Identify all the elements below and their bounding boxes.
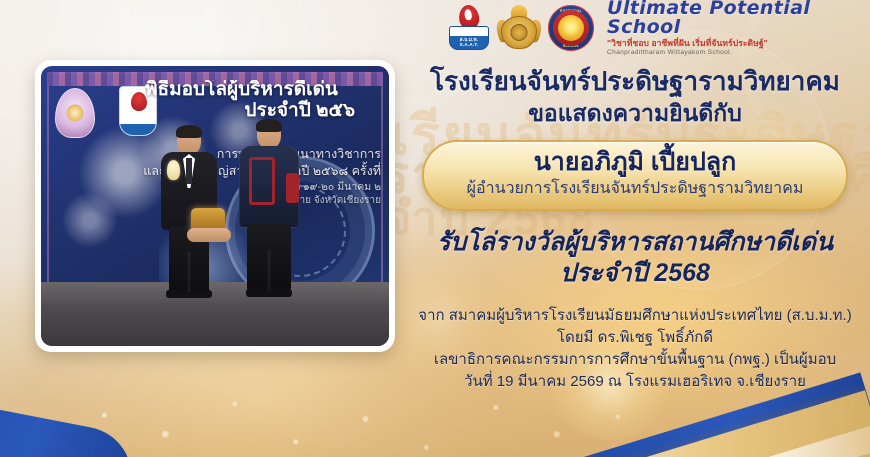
honoree-name-banner: นายอภิภูมิ เปี้ยปลูก ผู้อำนวยการโรงเรียน… <box>422 140 848 210</box>
congratulation-text: ขอแสดงความยินดีกับ <box>400 99 870 128</box>
school-name: โรงเรียนจันทร์ประดิษฐารามวิทยาคม <box>400 66 870 98</box>
saat-logo: ส.บ.ม.ท. S.A.A.T. <box>448 5 490 51</box>
person-shoes <box>246 289 292 297</box>
blue-ribbon-shape <box>0 389 140 457</box>
award-title: รับโล่รางวัลผู้บริหารสถานศึกษาดีเด่น <box>400 227 870 258</box>
honoree-role: ผู้อำนวยการโรงเรียนจันทร์ประดิษฐารามวิทย… <box>440 179 830 200</box>
ceremony-photo: พิธีมอบโล่ผู้บริหารดีเด่น ประจำปี ๒๕๖ กา… <box>41 66 389 346</box>
person-hair <box>256 119 282 132</box>
award-year: ประจำปี 2568 <box>400 258 870 289</box>
person-head <box>177 126 201 155</box>
backdrop-title-line1: พิธีมอบโล่ผู้บริหารดีเด่น <box>145 80 381 101</box>
announcement-text-column: โรงเรียนจันทร์ประดิษฐารามวิทยาคม ขอแสดงค… <box>400 66 870 394</box>
detail-line: เลขาธิการคณะกรรมการการศึกษาขั้นพื้นฐาน (… <box>400 349 870 371</box>
person-head <box>257 120 281 149</box>
ultimate-potential-school-seal: POTENTIAL SCHOOL <box>548 5 594 51</box>
detail-line: จาก สมาคมผู้บริหารโรงเรียนมัธยมศึกษาแห่ง… <box>400 305 870 327</box>
person-traditional-jacket <box>239 146 299 228</box>
brand-slogan: "วิชาที่ชอบ อาชีพที่ฝัน เริ่มที่จันทร์ปร… <box>607 39 864 48</box>
honoree-name: นายอภิภูมิ เปี้ยปลูก <box>440 148 830 178</box>
garuda-emblem <box>499 5 539 51</box>
garuda-center <box>511 24 528 41</box>
congratulation-poster: โรงเรียนจันทร์ประดิษฐารามวิทยาคม รับโล่ร… <box>0 0 870 457</box>
white-streak-shape <box>596 422 870 457</box>
lapel-ribbon-icon <box>167 160 180 180</box>
shield-icon: ส.บ.ม.ท. S.A.A.T. <box>449 26 489 50</box>
award-details: จาก สมาคมผู้บริหารโรงเรียนมัธยมศึกษาแห่ง… <box>400 305 870 394</box>
detail-line: โดยมี ดร.พิเชฐ โพธิ์ภักดี <box>400 327 870 349</box>
ceremony-photo-card: พิธีมอบโล่ผู้บริหารดีเด่น ประจำปี ๒๕๖ กา… <box>35 60 395 352</box>
person-shoes <box>166 290 212 298</box>
detail-line: วันที่ 19 มีนาคม 2569 ณ โรงแรมเฮอริเทจ จ… <box>400 371 870 393</box>
backdrop-title-line2: ประจำปี ๒๕๖ <box>145 101 381 122</box>
brand-subtitle: Chanpradittharam Wittayakom School. <box>607 50 864 57</box>
saat-abbr-latin: S.A.A.T. <box>460 42 479 48</box>
brand-title: Ultimate Potential School <box>607 0 864 37</box>
handshake <box>187 228 231 242</box>
person-legs <box>247 224 291 290</box>
seal-core <box>558 15 584 41</box>
gold-ribbon-shape <box>560 433 870 457</box>
person-hair <box>176 125 202 138</box>
header-logo-bar: ส.บ.ม.ท. S.A.A.T. POTENTIAL SCHOOL Ultim… <box>448 2 864 54</box>
award-presenter-figure <box>237 120 301 326</box>
backdrop-title: พิธีมอบโล่ผู้บริหารดีเด่น ประจำปี ๒๕๖ <box>145 80 381 121</box>
brand-wordmark: Ultimate Potential School "วิชาที่ชอบ อา… <box>607 0 864 57</box>
gold-ribbon-shape <box>559 390 870 457</box>
